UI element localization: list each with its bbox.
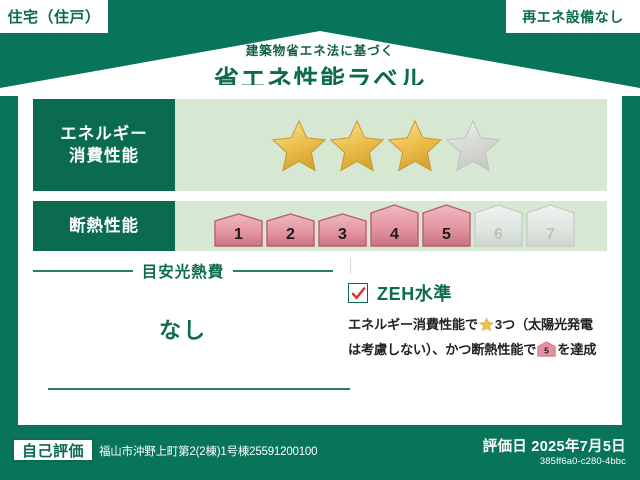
utility-cost-heading: 目安光熱費 [33,260,333,282]
utility-cost-bottom-rule [48,388,350,390]
insulation-level-5: 5 [421,204,472,248]
insulation-level-number: 3 [317,226,368,244]
insulation-level-number: 5 [421,226,472,244]
insulation-level-number: 1 [213,226,264,244]
star-filled-icon [271,118,327,172]
zeh-desc-part2: 3つ（太陽光発電 [495,317,593,332]
property-address: 福山市沖野上町第2(2棟)1号棟25591200100 [99,443,317,459]
energy-performance-label-line1: エネルギー [60,123,148,145]
energy-performance-label-line2: 消費性能 [69,145,139,167]
self-evaluation-badge: 自己評価 [12,438,94,462]
inline-star-icon [479,317,494,339]
check-icon [351,286,366,301]
evaluation-id: 385ff6a0-c280-4bbc [540,456,626,467]
zeh-section: ZEH水準 エネルギー消費性能で3つ（太陽光発電は考慮しない）、かつ断熱性能で5… [348,260,610,420]
lower-section: 目安光熱費 なし ZEH水準 エネルギー消費性能で3つ（太陽光発電は考慮しな [18,260,622,425]
insulation-level-1: 1 [213,213,264,248]
inline-house-value: 5 [544,345,549,355]
zeh-desc-part1: エネルギー消費性能で [348,317,478,332]
label-subtitle: 建築物省エネ法に基づく [0,40,640,59]
tag-building-type: 住宅（住戸） [0,0,108,33]
insulation-level-4: 4 [369,204,420,248]
tag-renewable-energy: 再エネ設備なし [506,0,640,33]
energy-performance-row: エネルギー 消費性能 [33,99,607,191]
main-panel: エネルギー 消費性能 断熱性能 1234567 目安光熱費 [18,85,622,425]
star-rating [271,118,501,172]
tag-renewable-energy-label: 再エネ設備なし [522,7,624,27]
insulation-level-3: 3 [317,213,368,248]
insulation-performance-body: 1234567 [175,201,607,251]
insulation-level-7: 7 [525,204,576,248]
inline-house-icon: 5 [537,341,556,364]
energy-label-root: 住宅（住戸） 再エネ設備なし 建築物省エネ法に基づく 省エネ性能ラベル エネルギ… [0,0,640,480]
zeh-title: ZEH水準 [377,280,452,306]
zeh-description: エネルギー消費性能で3つ（太陽光発電は考慮しない）、かつ断熱性能で5を達成 [348,314,614,364]
zeh-heading: ZEH水準 [348,280,610,306]
insulation-performance-label: 断熱性能 [33,201,175,251]
tag-building-type-label: 住宅（住戸） [7,6,100,27]
heading-rule-left [33,270,133,272]
heading-rule-right [233,270,333,272]
zeh-desc-part3: は考慮しない）、かつ断熱性能で [348,342,536,357]
insulation-level-6: 6 [473,204,524,248]
evaluation-date: 評価日 2025年7月5日 [483,435,626,456]
zeh-checkbox[interactable] [348,283,368,303]
insulation-level-number: 6 [473,226,524,244]
star-filled-icon [387,118,443,172]
insulation-level-2: 2 [265,213,316,248]
insulation-level-number: 2 [265,226,316,244]
insulation-performance-row: 断熱性能 1234567 [33,201,607,251]
energy-performance-label: エネルギー 消費性能 [33,99,175,191]
self-evaluation-badge-label: 自己評価 [22,440,84,461]
zeh-desc-part4: を達成 [557,342,596,357]
footer: 自己評価 福山市沖野上町第2(2棟)1号棟25591200100 評価日 202… [0,425,640,480]
utility-cost-section: 目安光熱費 なし [33,260,335,420]
insulation-level-scale: 1234567 [213,204,577,248]
insulation-level-number: 7 [525,226,576,244]
energy-performance-body [175,99,607,191]
insulation-performance-label-text: 断熱性能 [69,215,139,237]
star-empty-icon [445,118,501,172]
star-filled-icon [329,118,385,172]
utility-cost-heading-text: 目安光熱費 [142,260,225,282]
insulation-level-number: 4 [369,226,420,244]
utility-cost-value: なし [33,313,333,345]
